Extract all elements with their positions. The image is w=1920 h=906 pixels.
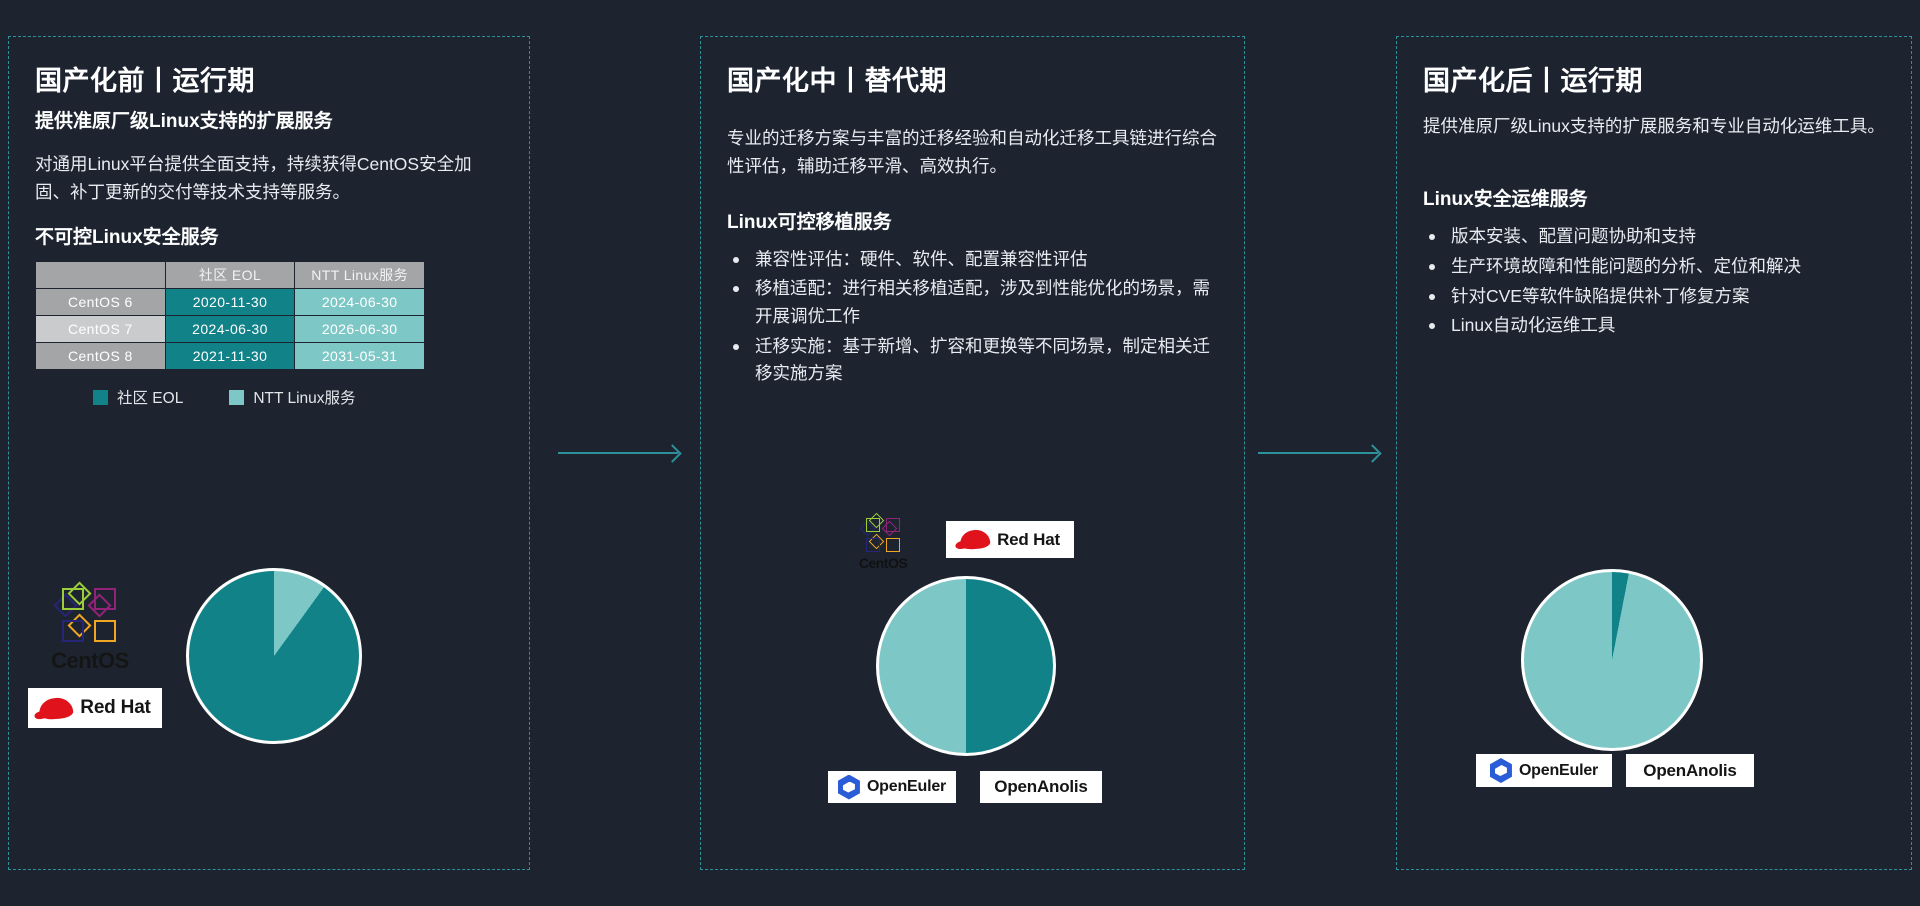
centos-mark-icon: [58, 584, 122, 648]
openanolis-logo-text: OpenAnolis: [994, 777, 1087, 797]
panel-3-section-title: Linux安全运维服务: [1423, 184, 1885, 211]
panel-3-title: 国产化后丨运行期: [1423, 59, 1885, 98]
pie-chart-after: [1521, 569, 1703, 751]
legend-item-community-eol: 社区 EOL: [93, 386, 183, 408]
legend-label: NTT Linux服务: [253, 386, 355, 408]
centos-eol-table: 社区 EOL NTT Linux服务 CentOS 6 2020-11-30 2…: [35, 261, 425, 370]
table-cell-ntt: 2026-06-30: [295, 316, 425, 343]
slide-canvas: 国产化前丨运行期 提供准原厂级Linux支持的扩展服务 对通用Linux平台提供…: [0, 0, 1920, 906]
panel-2-section-title: Linux可控移植服务: [727, 207, 1218, 234]
legend-swatch-icon: [229, 390, 244, 405]
centos-logo: CentOS: [46, 584, 134, 672]
redhat-hat-icon: [959, 529, 990, 550]
centos-logo-text: CentOS: [46, 650, 134, 672]
centos-logo-text: CentOS: [855, 556, 911, 570]
openeuler-logo-text: OpenEuler: [1519, 762, 1598, 780]
table-cell-ntt: 2031-05-31: [295, 343, 425, 370]
panel-2-description: 专业的迁移方案与丰富的迁移经验和自动化迁移工具链进行综合性评估，辅助迁移平滑、高…: [727, 124, 1218, 181]
openanolis-logo-text: OpenAnolis: [1643, 761, 1736, 781]
openeuler-logo-text: OpenEuler: [867, 778, 946, 796]
legend-label: 社区 EOL: [117, 386, 183, 408]
arrow-connector-2: [1258, 452, 1378, 454]
panel-before-localization: 国产化前丨运行期 提供准原厂级Linux支持的扩展服务 对通用Linux平台提供…: [8, 36, 530, 870]
openeuler-mark-icon: [1490, 758, 1512, 783]
redhat-logo-text: Red Hat: [997, 530, 1060, 550]
chart-legend: 社区 EOL NTT Linux服务: [35, 386, 503, 408]
table-cell-ntt: 2024-06-30: [295, 289, 425, 316]
table-header-ntt-linux: NTT Linux服务: [295, 262, 425, 289]
table-header-community-eol: 社区 EOL: [165, 262, 295, 289]
centos-logo: CentOS: [855, 515, 911, 570]
pie-slices: [186, 568, 362, 744]
table-header-row: 社区 EOL NTT Linux服务: [36, 262, 425, 289]
redhat-logo: Red Hat: [946, 521, 1074, 558]
table-header-blank: [36, 262, 166, 289]
openeuler-logo: OpenEuler: [1476, 754, 1612, 787]
pie-slices: [1521, 569, 1703, 751]
panel-1-subtitle: 提供准原厂级Linux支持的扩展服务: [35, 108, 503, 136]
arrow-connector-1: [558, 452, 678, 454]
table-cell-eol: 2021-11-30: [165, 343, 295, 370]
panel-2-title: 国产化中丨替代期: [727, 59, 1218, 98]
panel-1-section-title: 不可控Linux安全服务: [35, 222, 503, 249]
panel-3-description: 提供准原厂级Linux支持的扩展服务和专业自动化运维工具。: [1423, 112, 1885, 140]
list-item: 针对CVE等软件缺陷提供补丁修复方案: [1423, 283, 1885, 311]
list-item: 版本安装、配置问题协助和支持: [1423, 223, 1885, 251]
list-item: 移植适配：进行相关移植适配，涉及到性能优化的场景，需开展调优工作: [727, 275, 1218, 330]
panel-2-bullet-list: 兼容性评估：硬件、软件、配置兼容性评估 移植适配：进行相关移植适配，涉及到性能优…: [727, 246, 1218, 388]
panel-1-title: 国产化前丨运行期: [35, 59, 503, 98]
table-cell-os: CentOS 7: [36, 316, 166, 343]
list-item: 生产环境故障和性能问题的分析、定位和解决: [1423, 253, 1885, 281]
pie-chart-during: [876, 576, 1056, 756]
openeuler-logo: OpenEuler: [828, 771, 956, 803]
table-row: CentOS 7 2024-06-30 2026-06-30: [36, 316, 425, 343]
list-item: 兼容性评估：硬件、软件、配置兼容性评估: [727, 246, 1218, 274]
table-cell-eol: 2024-06-30: [165, 316, 295, 343]
pie-chart-before: [186, 568, 362, 744]
panel-3-bullet-list: 版本安装、配置问题协助和支持 生产环境故障和性能问题的分析、定位和解决 针对CV…: [1423, 223, 1885, 340]
openanolis-logo: OpenAnolis: [980, 771, 1102, 803]
table-row: CentOS 6 2020-11-30 2024-06-30: [36, 289, 425, 316]
centos-mark-icon: [863, 515, 903, 555]
table-cell-os: CentOS 8: [36, 343, 166, 370]
redhat-hat-icon: [39, 696, 74, 719]
list-item: Linux自动化运维工具: [1423, 312, 1885, 340]
pie-slices: [876, 576, 1056, 756]
legend-swatch-icon: [93, 390, 108, 405]
legend-item-ntt-linux: NTT Linux服务: [229, 386, 355, 408]
table-cell-os: CentOS 6: [36, 289, 166, 316]
openanolis-logo: OpenAnolis: [1626, 754, 1754, 787]
table-row: CentOS 8 2021-11-30 2031-05-31: [36, 343, 425, 370]
redhat-logo: Red Hat: [28, 688, 162, 728]
panel-1-description: 对通用Linux平台提供全面支持，持续获得CentOS安全加固、补丁更新的交付等…: [35, 150, 503, 207]
redhat-logo-text: Red Hat: [80, 697, 150, 719]
table-cell-eol: 2020-11-30: [165, 289, 295, 316]
list-item: 迁移实施：基于新增、扩容和更换等不同场景，制定相关迁移实施方案: [727, 333, 1218, 388]
openeuler-mark-icon: [838, 775, 860, 800]
